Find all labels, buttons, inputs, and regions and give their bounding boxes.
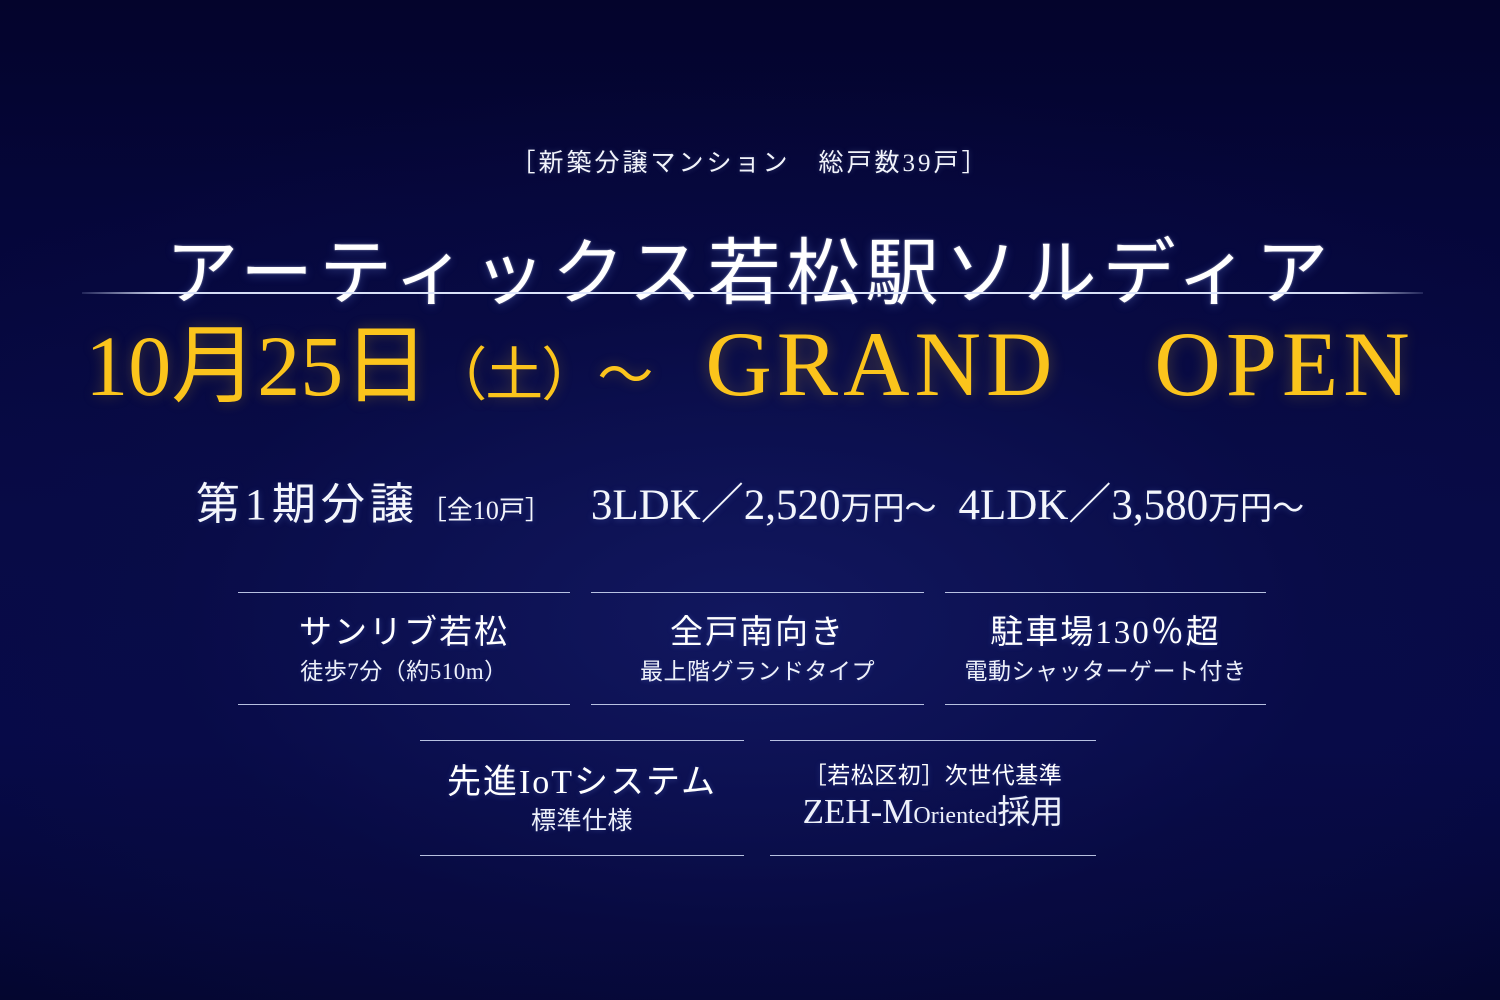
grand-open-label: GRAND OPEN (705, 318, 1414, 410)
open-date-tilde: 〜 (597, 346, 653, 408)
promo-banner: ［新築分譲マンション 総戸数39戸］ アーティックス若松駅ソルディア 10月25… (0, 0, 1500, 1000)
grand-open-date: 10月25日（土）〜 (85, 323, 653, 409)
feature-card-zeh: ［若松区初］次世代基準 ZEH-MOriented採用 (770, 740, 1096, 856)
grand-open-row: 10月25日（土）〜 GRAND OPEN (0, 318, 1500, 410)
feature-title: ［若松区初］次世代基準 (770, 763, 1096, 789)
feature-row-top: サンリブ若松 徒歩7分（約510m） 全戸南向き 最上階グランドタイプ 駐車場1… (238, 592, 1266, 705)
feature-subtitle: 最上階グランドタイプ (591, 658, 924, 686)
plan-b-unit: 万円〜 (1208, 490, 1304, 526)
price-row: 第1期分譲 ［全10戸］ 3LDK／2,520万円〜 4LDK／3,580万円〜 (0, 468, 1500, 532)
page-title: アーティックス若松駅ソルディア (0, 235, 1500, 314)
title-divider (82, 292, 1423, 294)
plan-b: 4LDK／3,580万円〜 (959, 470, 1305, 532)
open-date-number: 10月25日 (85, 318, 429, 414)
feature-card-parking: 駐車場130％超 電動シャッターゲート付き (945, 592, 1266, 705)
feature-row-bottom: 先進IoTシステム 標準仕様 ［若松区初］次世代基準 ZEH-MOriented… (420, 740, 1096, 856)
plan-b-price: 4LDK／3,580 (959, 482, 1209, 529)
plan-a: 3LDK／2,520万円〜 (591, 470, 937, 532)
feature-title: 全戸南向き (591, 615, 924, 653)
feature-subtitle: 電動シャッターゲート付き (945, 658, 1266, 686)
feature-title: 先進IoTシステム (420, 763, 744, 802)
feature-subtitle: 徒歩7分（約510m） (238, 658, 570, 686)
feature-card-sunlive: サンリブ若松 徒歩7分（約510m） (238, 592, 570, 705)
feature-card-south-facing: 全戸南向き 最上階グランドタイプ (591, 592, 924, 705)
phase-label: 第1期分譲 (196, 468, 419, 532)
feature-card-iot: 先進IoTシステム 標準仕様 (420, 740, 744, 856)
feature-subtitle: 標準仕様 (420, 807, 744, 837)
feature-subtitle: ZEH-MOriented採用 (770, 791, 1096, 834)
zeh-adopt-label: 採用 (997, 795, 1063, 831)
zeh-label: ZEH-M (803, 792, 914, 831)
open-date-weekday: （土） (429, 343, 597, 408)
plan-a-unit: 万円〜 (840, 490, 936, 526)
phase-units-label: ［全10戸］ (421, 490, 551, 527)
zeh-oriented-label: Oriented (913, 803, 997, 829)
plan-a-price: 3LDK／2,520 (591, 482, 841, 529)
feature-title: サンリブ若松 (238, 615, 570, 653)
eyebrow-label: ［新築分譲マンション 総戸数39戸］ (0, 143, 1500, 179)
feature-title: 駐車場130％超 (945, 615, 1266, 653)
